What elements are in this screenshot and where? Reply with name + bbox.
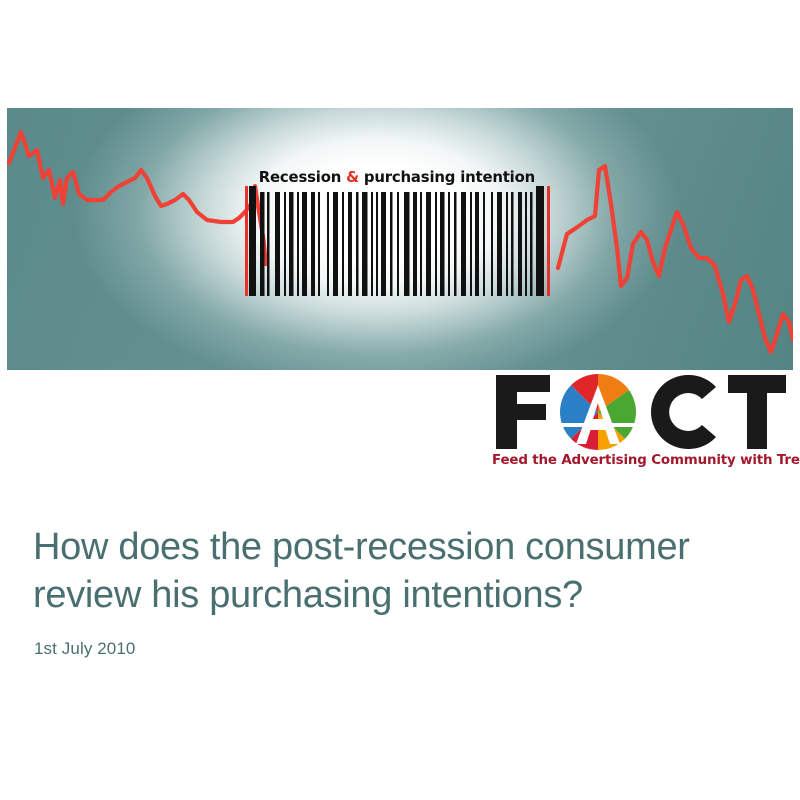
page-title-line-1: How does the post-recession consumer bbox=[33, 523, 763, 571]
fact-letter-f bbox=[496, 375, 550, 449]
fact-letter-c bbox=[651, 375, 716, 449]
barcode-label-part-2: purchasing intention bbox=[359, 168, 535, 186]
slide-date: 1st July 2010 bbox=[34, 639, 763, 659]
title-block: How does the post-recession consumer rev… bbox=[33, 523, 763, 659]
barcode-accent-bar-right bbox=[547, 186, 550, 296]
fact-logo-tagline: Feed the Advertising Community with Tren… bbox=[492, 453, 790, 468]
barcode-label-ampersand: & bbox=[346, 168, 359, 186]
fact-letter-a-circle-mark bbox=[558, 371, 638, 453]
barcode-accent-bar-left bbox=[245, 186, 248, 296]
barcode-bars bbox=[241, 186, 553, 296]
page-title: How does the post-recession consumer rev… bbox=[33, 523, 763, 619]
barcode-bar-group bbox=[249, 186, 544, 296]
chart-line-right bbox=[558, 166, 793, 352]
fact-logo-mark bbox=[492, 371, 790, 453]
barcode-label-part-1: Recession bbox=[259, 168, 346, 186]
slide-root: Recession & purchasing intention bbox=[0, 0, 800, 800]
chart-line-left bbox=[9, 132, 266, 264]
barcode-label-text: Recession & purchasing intention bbox=[259, 168, 535, 186]
barcode-graphic: Recession & purchasing intention bbox=[241, 162, 553, 296]
page-title-line-2: review his purchasing intentions? bbox=[33, 571, 763, 619]
fact-letter-t bbox=[728, 375, 786, 449]
fact-logo: Feed the Advertising Community with Tren… bbox=[492, 371, 790, 475]
